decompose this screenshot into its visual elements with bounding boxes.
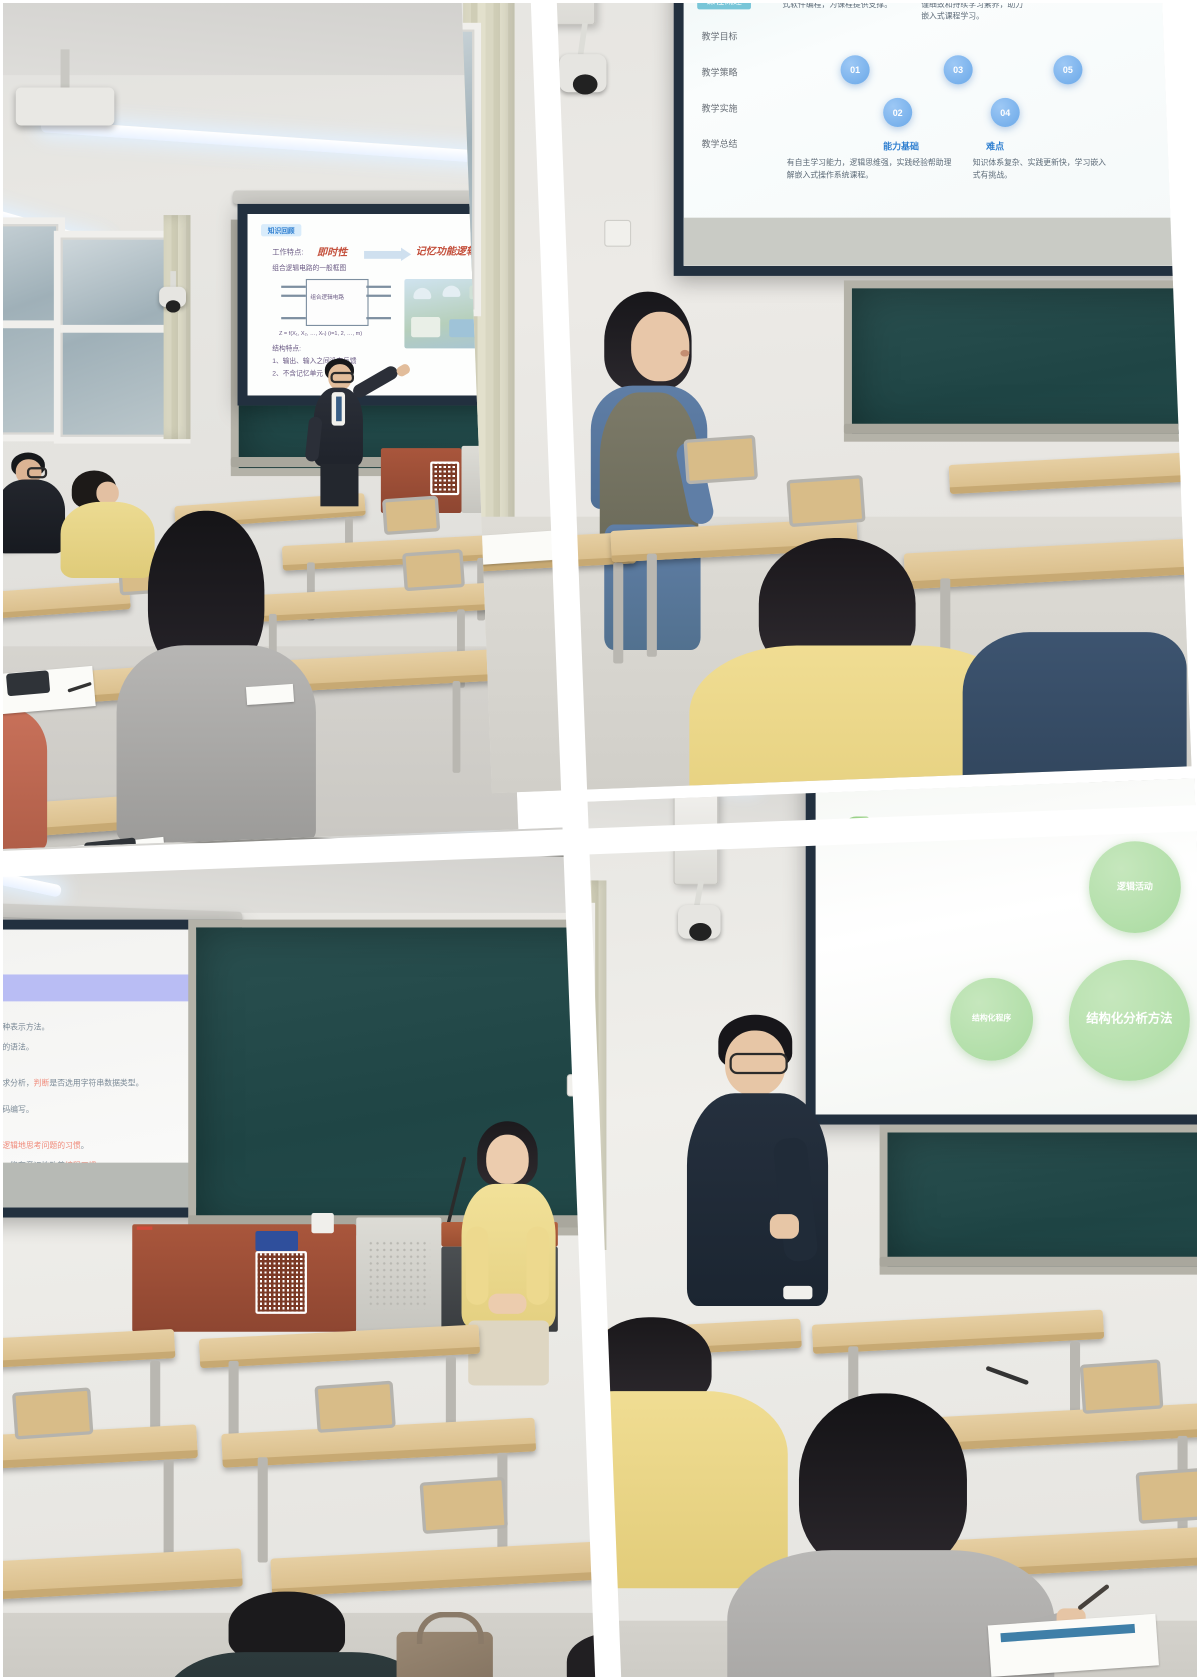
slide-b-card-1-text: 有自主学习能力，逻辑思维强，实践经验帮助理解嵌入式操作系统课程。 [787, 158, 955, 182]
slide-d-circle-0: 逻辑活动 [1089, 841, 1181, 933]
projector [16, 87, 115, 125]
presenter-remote [783, 1286, 812, 1299]
wall-outlet [604, 220, 631, 247]
slide-b-card-2-number: 03 [944, 55, 973, 84]
chair-back [314, 1381, 395, 1433]
panel-top-left: 知识回顾 工作特点: 即时性 记忆功能逻辑单元 组合逻辑电路的一般框图 组合逻辑… [0, 0, 519, 860]
slide-b-nav-2: 教学策略 [702, 66, 738, 78]
collage-edge-left [0, 0, 3, 1680]
chair-back [402, 549, 465, 591]
slide-c-line-1: 能记住字符串的基本操作的语法。 [0, 1042, 34, 1053]
slide-a-subtitle: 组合逻辑电路的一般框图 [272, 264, 346, 274]
camera-dome-icon [689, 923, 711, 941]
slide-b-nav-3: 教学实施 [702, 102, 738, 114]
slide-b-card-2-text: 具备问题解决、创新思维、严谨细致和持续学习素养，助力嵌入式课程学习。 [921, 0, 1029, 23]
qr-code-poster [255, 1251, 307, 1314]
panel-bottom-left: 能说出字符串的概念和三种表示方法。 能记住字符串的基本操作的语法。 能对实际工程… [0, 826, 635, 1680]
slide-c-line-0: 能说出字符串的概念和三种表示方法。 [0, 1022, 49, 1033]
slide-a-tag: 知识回顾 [261, 224, 301, 236]
chalk-tray [880, 1257, 1200, 1267]
podium-red-mark [137, 1226, 153, 1229]
slide-b-card-3-text: 知识体系复杂、实践更新快，学习嵌入式有挑战。 [973, 158, 1107, 182]
slide-b-nav-1: 教学目标 [702, 31, 738, 43]
slide-b-card-3-heading: 难点 [986, 140, 1004, 152]
slide-b-card-3-number: 04 [991, 98, 1020, 127]
projector-screen: 1.3 学情分析 课程概述 教学目标 教学策略 教学实施 教学总结 知识基础 大… [674, 0, 1192, 276]
slide-a-line1-value: 即时性 [317, 244, 347, 259]
presenter-male-glasses [687, 1015, 833, 1351]
slide-a-box-label: 组合逻辑电路 [310, 295, 344, 303]
student-male-dark-jacket-foreground [164, 1592, 433, 1680]
qr-code-poster [430, 462, 459, 496]
slide-c-line-4: 能使用字符串操作完成代码编写。 [0, 1104, 34, 1115]
blackboard [188, 920, 629, 1236]
photo-collage: 知识回顾 工作特点: 即时性 记忆功能逻辑单元 组合逻辑电路的一般框图 组合逻辑… [0, 0, 1200, 1680]
camera-dome-icon [166, 300, 181, 312]
slide-a-formula: Z = f(X₁, X₂, …, Xₙ) (i=1, 2, …, m) [279, 330, 362, 338]
lips [680, 350, 689, 357]
slide-surface-b: 1.3 学情分析 课程概述 教学目标 教学策略 教学实施 教学总结 知识基础 大… [684, 0, 1192, 266]
slide-a-struct-label: 结构特点: [272, 345, 301, 355]
paper [246, 684, 294, 705]
student-navy-shoulder [963, 632, 1187, 793]
chair-back [420, 1477, 509, 1534]
curtain [164, 215, 191, 439]
classroom-scene-c: 能说出字符串的概念和三种表示方法。 能记住字符串的基本操作的语法。 能对实际工程… [0, 826, 635, 1680]
panel-bottom-right: 结构化分析方法 逻辑活动 结构化程序 结构化分析方法 [575, 778, 1200, 1680]
slide-d-circle-1: 结构化程序 [950, 978, 1033, 1061]
handbag [397, 1632, 493, 1680]
slide-c-line-3: 能对实际工程问题进行需求分析，判断是否选用字符串数据类型。 [0, 1078, 143, 1089]
camera-dome-icon [573, 74, 598, 94]
arrow-head-icon [401, 248, 411, 261]
slide-b-card-1-number: 02 [883, 98, 912, 127]
chair-back [1080, 1359, 1164, 1414]
student-female-gray-sweater-longhair [117, 511, 319, 836]
podium-blue-label [255, 1231, 298, 1251]
blackboard [880, 1125, 1200, 1275]
chalk-tray [844, 424, 1192, 434]
chair-back [12, 1387, 93, 1439]
podium-speaker-grille [367, 1240, 430, 1309]
chair-back [786, 475, 865, 527]
slide-b-nav-4: 教学总结 [702, 138, 738, 150]
lanyard [336, 397, 342, 422]
slide-b-card-0-number: 01 [841, 55, 870, 84]
arrow-bar [364, 251, 402, 259]
student-orange-sleeve [0, 708, 52, 854]
slide-a-line1-label: 工作特点: [272, 248, 303, 259]
slide-bottom-band [684, 218, 1192, 266]
clasped-hands [488, 1294, 526, 1314]
chair-back [1136, 1467, 1200, 1524]
presenter-male-dark-suit [305, 358, 392, 504]
slide-d-circle-2: 结构化分析方法 [1069, 960, 1190, 1081]
ceiling [0, 0, 519, 75]
classroom-scene-a: 知识回顾 工作特点: 即时性 记忆功能逻辑单元 组合逻辑电路的一般框图 组合逻辑… [0, 0, 519, 860]
blackboard [844, 280, 1192, 441]
collage-edge-top [0, 0, 1200, 3]
glasses-icon [730, 1053, 788, 1074]
slide-b-card-1-heading: 能力基础 [883, 140, 919, 152]
classroom-scene-d: 结构化分析方法 逻辑活动 结构化程序 结构化分析方法 [575, 778, 1200, 1680]
slide-b-card-4-number: 05 [1053, 55, 1082, 84]
chair-back [683, 435, 758, 485]
hand [770, 1214, 799, 1239]
slide-c-line-6: 通过流程图绘制，养成有逻辑地思考问题的习惯。 [0, 1140, 89, 1151]
phone [6, 670, 50, 696]
